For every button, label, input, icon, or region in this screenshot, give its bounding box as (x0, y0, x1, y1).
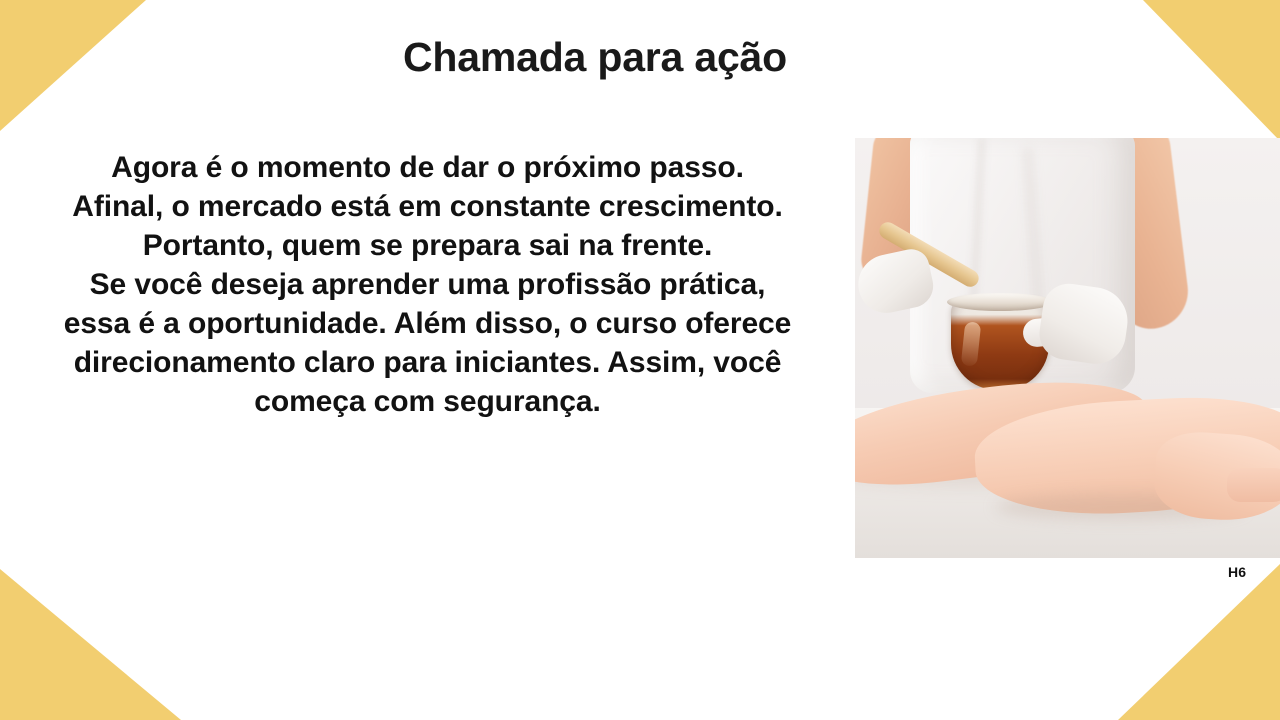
slide-footer-label: H6 (1228, 564, 1246, 580)
slide-canvas: Chamada para ação Agora é o momento de d… (0, 0, 1280, 720)
body-line: Afinal, o mercado está em constante cres… (30, 187, 825, 226)
slide-title: Chamada para ação (180, 34, 1010, 81)
photo-wax-jar-rim (947, 293, 1053, 311)
corner-decoration-bottom-left (0, 569, 181, 720)
corner-decoration-bottom-right (1118, 564, 1280, 720)
body-line: direcionamento claro para iniciantes. As… (30, 343, 825, 382)
waxing-photo (855, 138, 1280, 558)
photo-client-toes (1227, 468, 1280, 502)
corner-decoration-top-right (1143, 0, 1280, 141)
body-line: Agora é o momento de dar o próximo passo… (30, 148, 825, 187)
body-line: começa com segurança. (30, 382, 825, 421)
body-line: Portanto, quem se prepara sai na frente. (30, 226, 825, 265)
corner-decoration-top-left (0, 0, 146, 131)
body-line: essa é a oportunidade. Além disso, o cur… (30, 304, 825, 343)
body-line: Se você deseja aprender uma profissão pr… (30, 265, 825, 304)
slide-body-text: Agora é o momento de dar o próximo passo… (30, 148, 825, 421)
